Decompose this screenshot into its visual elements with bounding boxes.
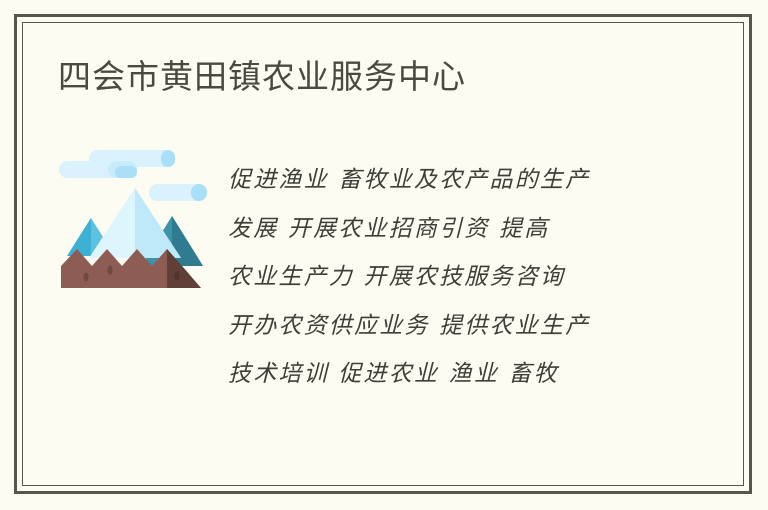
rock-speck xyxy=(174,271,179,280)
snow-mountain-icon xyxy=(55,148,215,308)
description-line: 发展 开展农业招商引资 提高 xyxy=(228,205,658,254)
rock-speck xyxy=(107,265,112,274)
description-line: 开办农资供应业务 提供农业生产 xyxy=(228,302,658,351)
page-title: 四会市黄田镇农业服务中心 xyxy=(58,55,466,99)
rock-speck xyxy=(83,273,88,281)
description-line: 技术培训 促进农业 渔业 畜牧 xyxy=(228,350,658,399)
description-block: 促进渔业 畜牧业及农产品的生产 发展 开展农业招商引资 提高 农业生产力 开展农… xyxy=(228,156,658,399)
left-peak-shade xyxy=(67,218,91,256)
right-peak-shade xyxy=(172,216,203,266)
description-line: 农业生产力 开展农技服务咨询 xyxy=(228,253,658,302)
description-line: 促进渔业 畜牧业及农产品的生产 xyxy=(228,156,658,205)
business-info-card: 四会市黄田镇农业服务中心 xyxy=(0,0,768,510)
